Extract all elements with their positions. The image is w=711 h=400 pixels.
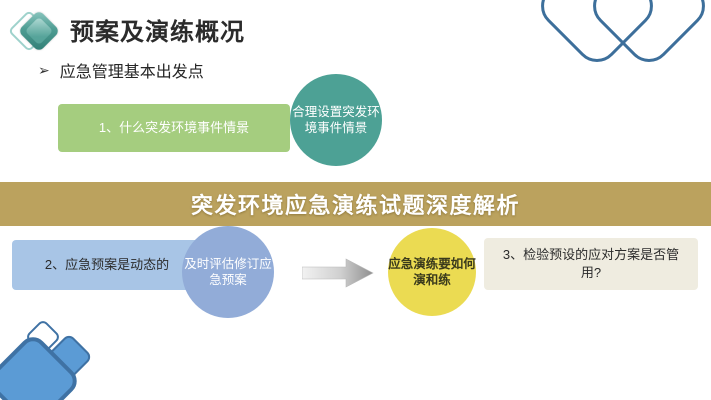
page-title: 预案及演练概况 bbox=[70, 12, 245, 47]
rotated-rounded-squares-icon bbox=[0, 318, 120, 400]
flow-bar-2: 2、应急预案是动态的 bbox=[12, 240, 202, 290]
overlapping-rounded-squares-icon bbox=[521, 0, 711, 70]
deco-square-right bbox=[584, 0, 711, 71]
teal-diamond-logo-icon bbox=[12, 10, 64, 54]
deco-diamond-big bbox=[0, 332, 82, 400]
flow-circle-1: 合理设置突发环境事件情景 bbox=[290, 74, 382, 166]
deco-diamond-mid bbox=[45, 333, 93, 381]
deco-square-left bbox=[532, 0, 662, 71]
flow-bar-1: 1、什么突发环境事件情景 bbox=[58, 104, 290, 152]
bullet-label: 应急管理基本出发点 bbox=[60, 58, 204, 82]
bullet-arrow-icon: ➢ bbox=[38, 63, 50, 77]
slide-canvas: 预案及演练概况 ➢ 应急管理基本出发点 1、什么突发环境事件情景 合理设置突发环… bbox=[0, 0, 711, 400]
banner-title: 突发环境应急演练试题深度解析 bbox=[191, 188, 520, 220]
right-arrow-icon bbox=[302, 258, 374, 288]
flow-bar-3: 3、检验预设的应对方案是否管用? bbox=[484, 238, 698, 290]
deco-diamond-small bbox=[25, 319, 62, 356]
bullet-row: ➢ 应急管理基本出发点 bbox=[38, 58, 204, 82]
flow-circle-2: 及时评估修订应急预案 bbox=[182, 226, 274, 318]
flow-circle-3: 应急演练要如何演和练 bbox=[388, 228, 476, 316]
title-banner: 突发环境应急演练试题深度解析 bbox=[0, 182, 711, 226]
